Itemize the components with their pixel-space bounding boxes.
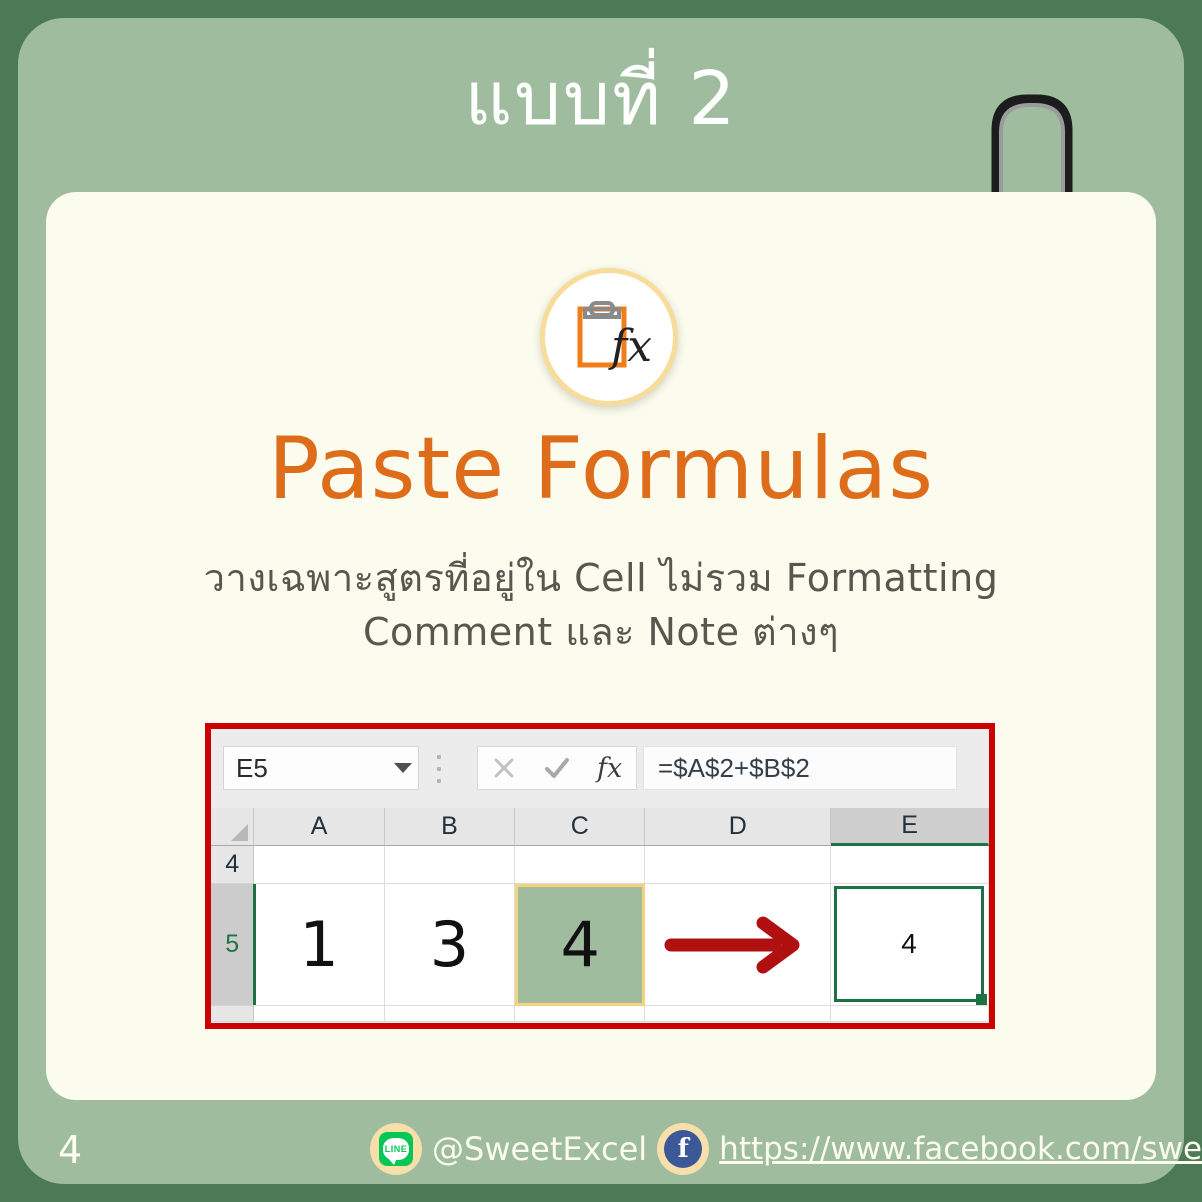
- table-row: 5 1 3 4: [211, 884, 989, 1006]
- subtitle: วางเฉพาะสูตรที่อยู่ใน Cell ไม่รวม Format…: [110, 552, 1092, 660]
- row-header-4[interactable]: 4: [211, 846, 254, 884]
- select-all-corner[interactable]: [211, 808, 254, 846]
- column-header-b[interactable]: B: [385, 808, 515, 846]
- cell-a4[interactable]: [254, 846, 384, 884]
- cell-d4[interactable]: [645, 846, 831, 884]
- table-row: 4: [211, 846, 989, 884]
- cell-b4[interactable]: [385, 846, 515, 884]
- cell-b5[interactable]: 3: [385, 884, 515, 1006]
- cell-a5-value: 1: [299, 914, 338, 976]
- check-icon[interactable]: [540, 753, 574, 783]
- facebook-url[interactable]: https://www.facebook.com/sweetexcelbymd/: [719, 1131, 1202, 1167]
- formula-bar-row: E5: [211, 739, 989, 799]
- cell-partial-a: [254, 1006, 384, 1022]
- fx-icon[interactable]: 𝑓x: [593, 753, 627, 783]
- formula-input[interactable]: =$A$2+$B$2: [643, 746, 957, 790]
- column-header-e[interactable]: E: [831, 808, 989, 846]
- cell-e5-target[interactable]: 4: [831, 884, 989, 1006]
- cell-c4[interactable]: [515, 846, 645, 884]
- line-handle: @SweetExcel: [432, 1130, 647, 1168]
- row-header-5[interactable]: 5: [211, 884, 254, 1006]
- page-number: 4: [58, 1128, 82, 1172]
- arrow-right-icon: [663, 915, 813, 975]
- table-row-partial: [211, 1006, 989, 1022]
- svg-text:fx: fx: [608, 321, 651, 372]
- close-icon[interactable]: [487, 753, 521, 783]
- cell-e5-value: 4: [834, 886, 984, 1002]
- fill-handle[interactable]: [976, 994, 987, 1005]
- name-box-value: E5: [224, 753, 388, 784]
- subtitle-line-2: Comment และ Note ต่างๆ: [110, 606, 1092, 660]
- column-header-c[interactable]: C: [515, 808, 645, 846]
- footer: LINE @SweetExcel f https://www.facebook.…: [370, 1118, 1170, 1180]
- main-heading: Paste Formulas: [0, 424, 1202, 514]
- formula-bar: 𝑓x =$A$2+$B$2: [477, 746, 957, 790]
- vertical-dots-icon[interactable]: [435, 755, 443, 783]
- cell-e4[interactable]: [831, 846, 989, 884]
- line-label: LINE: [385, 1144, 408, 1154]
- row-selection-edge: [253, 884, 256, 1005]
- column-header-d[interactable]: D: [645, 808, 831, 846]
- excel-screenshot: E5: [205, 723, 995, 1029]
- name-box[interactable]: E5: [223, 746, 419, 790]
- row-header-partial: [211, 1006, 254, 1022]
- cell-partial-b: [385, 1006, 515, 1022]
- subtitle-line-1: วางเฉพาะสูตรที่อยู่ใน Cell ไม่รวม Format…: [110, 552, 1092, 606]
- cell-partial-c: [515, 1006, 645, 1022]
- cell-partial-d: [645, 1006, 831, 1022]
- cell-c5-source[interactable]: 4: [515, 884, 645, 1006]
- worksheet-grid: A B C D E 4 5: [211, 808, 989, 1022]
- cell-d5[interactable]: [645, 884, 831, 1006]
- cell-partial-e: [831, 1006, 989, 1022]
- clipboard-fx-icon: fx: [540, 268, 678, 406]
- cell-a5[interactable]: 1: [254, 884, 384, 1006]
- cell-c5-value: 4: [561, 914, 600, 976]
- facebook-icon[interactable]: f: [657, 1123, 709, 1175]
- formula-bar-buttons: 𝑓x: [477, 746, 637, 790]
- cell-b5-value: 3: [430, 914, 469, 976]
- line-icon[interactable]: LINE: [370, 1123, 422, 1175]
- column-header-a[interactable]: A: [254, 808, 384, 846]
- chevron-down-icon[interactable]: [388, 763, 418, 773]
- poster-root: แบบที่ 2 fx Paste Formulas วางเฉพาะสูตรท…: [0, 0, 1202, 1202]
- column-header-row: A B C D E: [211, 808, 989, 846]
- facebook-glyph: f: [664, 1130, 702, 1168]
